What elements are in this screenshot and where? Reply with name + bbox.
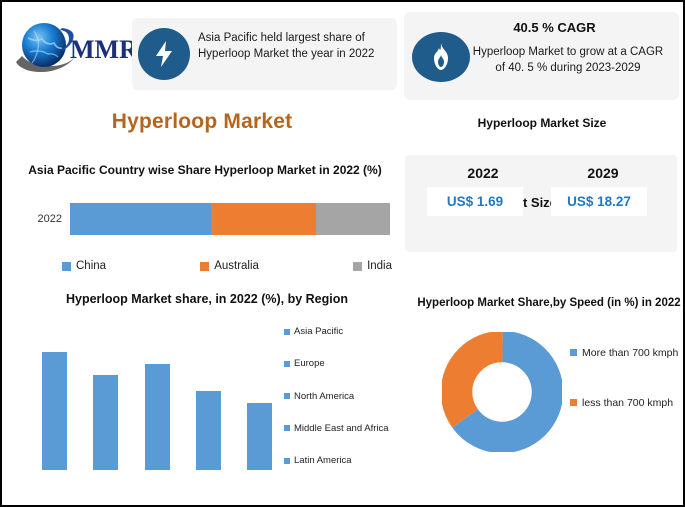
stacked-segment-australia [211, 203, 317, 235]
legend-item-latin-america: Latin America [284, 455, 414, 466]
legend-item-australia: Australia [200, 260, 259, 272]
asia-pacific-banner-text: Asia Pacific held largest share of Hyper… [198, 30, 393, 62]
legend-item-india: India [353, 260, 392, 272]
flame-icon [412, 32, 470, 82]
legend-swatch-asia-pacific [284, 329, 290, 335]
page-title: Hyperloop Market [2, 110, 402, 134]
legend-swatch-more-than-700 [570, 349, 577, 356]
mmr-logo: MMR [12, 14, 140, 80]
legend-label-north-america: North America [294, 391, 354, 402]
logo-wordmark: MMR [70, 35, 138, 64]
legend-item-middle-east-africa: Middle East and Africa [284, 423, 414, 434]
legend-label-asia-pacific: Asia Pacific [294, 326, 343, 337]
cagr-description: Hyperloop Market to grow at a CAGR of 40… [468, 44, 668, 76]
region-bar-chart [42, 340, 272, 470]
region-chart-title: Hyperloop Market share, in 2022 (%), by … [12, 292, 402, 306]
stacked-segment-india [316, 203, 390, 235]
legend-swatch-europe [284, 361, 290, 367]
legend-label-china: China [76, 260, 106, 272]
donut-chart-title: Hyperloop Market Share,by Speed (in %) i… [414, 296, 684, 311]
legend-label-australia: Australia [214, 260, 259, 272]
donut-slice-less-than-700 [457, 347, 548, 438]
legend-item-north-america: North America [284, 391, 414, 402]
region-bar-north-america [145, 364, 170, 470]
globe-swoosh-icon: MMR [12, 14, 140, 80]
legend-swatch-less-than-700 [570, 399, 577, 406]
stacked-bar-track [70, 203, 390, 235]
legend-swatch-australia [200, 262, 209, 271]
legend-item-more-than-700: More than 700 kmph [570, 346, 682, 360]
stacked-bar-legend: China Australia India [62, 260, 392, 272]
region-bar-middle-east-africa [196, 391, 221, 470]
stacked-bar-chart: 2022 [20, 202, 390, 236]
market-size-panel: Market Size in Bn. 2022 2029 US$ 1.69 US… [405, 155, 677, 252]
cagr-headline: 40.5 % CAGR [404, 20, 679, 35]
region-bar-latin-america [247, 403, 272, 470]
hyperloop-market-infographic: MMR Asia Pacific held largest share of H… [0, 0, 685, 507]
legend-label-india: India [367, 260, 392, 272]
market-size-title: Hyperloop Market Size [402, 116, 682, 130]
legend-item-less-than-700: less than 700 kmph [570, 396, 682, 410]
legend-label-middle-east-africa: Middle East and Africa [294, 423, 389, 434]
legend-item-europe: Europe [284, 358, 414, 369]
market-size-value-2022: US$ 1.69 [427, 187, 523, 216]
stacked-bar-chart-title: Asia Pacific Country wise Share Hyperloo… [20, 162, 390, 178]
market-size-value-2029: US$ 18.27 [551, 187, 647, 216]
market-size-year-2022: 2022 [443, 165, 523, 181]
legend-item-china: China [62, 260, 106, 272]
legend-swatch-china [62, 262, 71, 271]
legend-label-more-than-700: More than 700 kmph [582, 346, 678, 360]
donut-chart [442, 332, 562, 452]
legend-swatch-north-america [284, 393, 290, 399]
stacked-bar-axis-label: 2022 [20, 213, 70, 225]
legend-swatch-middle-east-africa [284, 425, 290, 431]
region-chart-legend: Asia Pacific Europe North America Middle… [284, 326, 414, 466]
market-size-year-2029: 2029 [563, 165, 643, 181]
legend-item-asia-pacific: Asia Pacific [284, 326, 414, 337]
legend-label-latin-america: Latin America [294, 455, 352, 466]
lightning-bolt-icon [138, 28, 190, 80]
legend-swatch-india [353, 262, 362, 271]
stacked-segment-china [70, 203, 211, 235]
region-bar-asia-pacific [42, 352, 67, 470]
asia-pacific-banner: Asia Pacific held largest share of Hyper… [132, 18, 397, 90]
cagr-banner: 40.5 % CAGR Hyperloop Market to grow at … [404, 12, 679, 100]
region-bar-europe [93, 375, 118, 470]
legend-swatch-latin-america [284, 458, 290, 464]
donut-chart-legend: More than 700 kmph less than 700 kmph [570, 346, 682, 446]
legend-label-less-than-700: less than 700 kmph [582, 396, 673, 410]
legend-label-europe: Europe [294, 358, 325, 369]
